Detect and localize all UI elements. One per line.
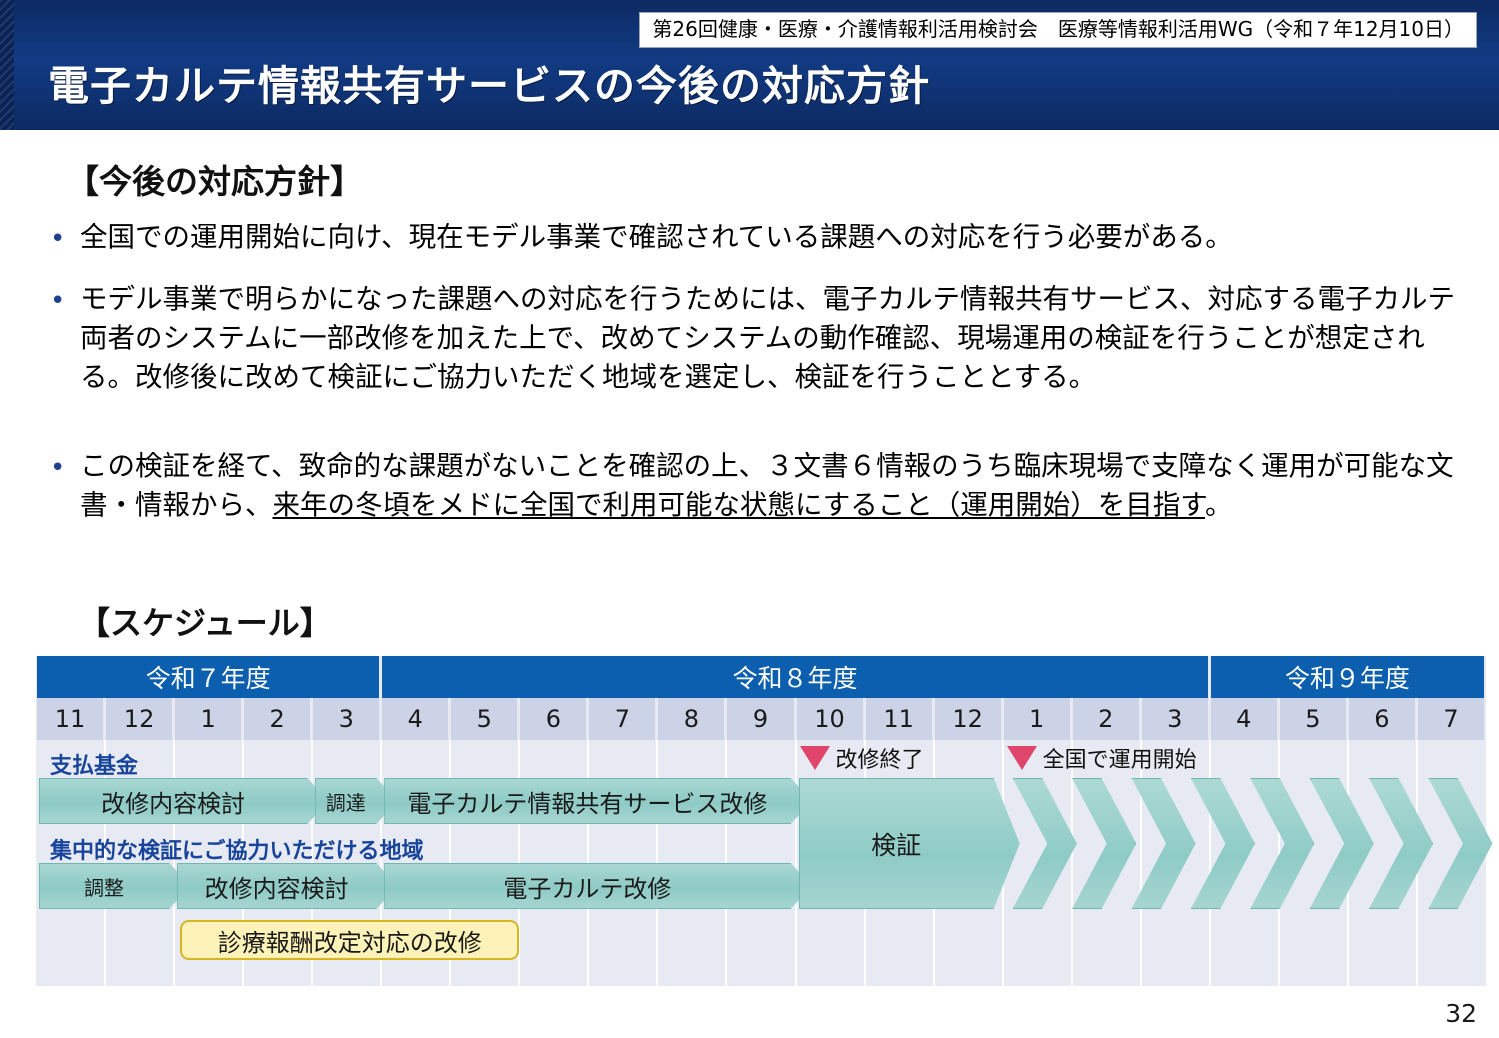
gantt-chevron-4 xyxy=(1191,778,1255,909)
page-title: 電子カルテ情報共有サービスの今後の対応方針 xyxy=(48,52,930,112)
fiscal-year-header-row: 令和７年度令和８年度令和９年度 xyxy=(36,656,1486,698)
month-cell-1-2: 1 xyxy=(175,698,241,740)
group-label-1: 支払基金 xyxy=(50,748,138,780)
month-cell-2-3: 2 xyxy=(244,698,310,740)
fiscal-year-cell-3: 令和９年度 xyxy=(1211,656,1484,698)
month-cell-8-9: 8 xyxy=(658,698,724,740)
month-cell-4-5: 4 xyxy=(382,698,448,740)
meeting-tag: 第26回健康・医療・介護情報利活用検討会 医療等情報利活用WG（令和７年12月1… xyxy=(639,12,1477,48)
milestone-label: 改修終了 xyxy=(836,742,924,774)
month-header-row: 11121234567891011121234567 xyxy=(36,698,1486,740)
group-label-2: 集中的な検証にご協力いただける地域 xyxy=(50,833,424,865)
bullet-text: 全国での運用開始に向け、現在モデル事業で確認されている課題への対応を行う必要があ… xyxy=(80,218,1233,257)
month-cell-6-7: 6 xyxy=(520,698,586,740)
triangle-down-icon xyxy=(1007,746,1037,770)
month-cell-11-12: 11 xyxy=(866,698,932,740)
schedule-heading: 【スケジュール】 xyxy=(78,598,332,644)
month-cell-4-17: 4 xyxy=(1211,698,1277,740)
gantt-bar-shinryo-hoshu-kaitei: 診療報酬改定対応の改修 xyxy=(180,920,519,960)
bullet-text: モデル事業で明らかになった課題への対応を行うためには、電子カルテ情報共有サービス… xyxy=(80,280,1475,397)
milestone-marker-1: 改修終了 xyxy=(800,742,924,774)
gantt-bar-kaishu-naiyo-kento-kikin: 改修内容検討 xyxy=(39,778,329,824)
bullet-text-underlined: 来年の冬頃をメドに全国で利用可能な状態にすること（運用開始）を目指す xyxy=(273,489,1206,521)
bullet-item-3: • この検証を経て、致命的な課題がないことを確認の上、３文書６情報のうち臨床現場… xyxy=(50,447,1475,525)
month-cell-5-6: 5 xyxy=(451,698,517,740)
grid-line xyxy=(1209,740,1211,986)
gantt-bar-denshi-karute-service-kaishu: 電子カルテ情報共有サービス改修 xyxy=(384,778,812,824)
month-cell-1-14: 1 xyxy=(1004,698,1070,740)
header-band: 第26回健康・医療・介護情報利活用検討会 医療等情報利活用WG（令和７年12月1… xyxy=(0,0,1499,130)
month-cell-3-16: 3 xyxy=(1142,698,1208,740)
month-cell-3-4: 3 xyxy=(313,698,379,740)
bullet-dot: • xyxy=(50,447,80,481)
month-cell-9-10: 9 xyxy=(727,698,793,740)
month-cell-2-15: 2 xyxy=(1073,698,1139,740)
bullet-text: この検証を経て、致命的な課題がないことを確認の上、３文書６情報のうち臨床現場で支… xyxy=(80,447,1475,525)
triangle-down-icon xyxy=(800,746,830,770)
gantt-grid-area: 支払基金集中的な検証にご協力いただける地域改修内容検討調達電子カルテ情報共有サー… xyxy=(36,740,1486,986)
gantt-chevron-7 xyxy=(1369,778,1433,909)
gantt-chevron-2 xyxy=(1072,778,1136,909)
gantt-chevron-8 xyxy=(1428,778,1492,909)
bullet-text-tail: 。 xyxy=(1205,489,1233,521)
gantt-bar-kensho: 検証 xyxy=(799,778,1020,909)
page-number: 32 xyxy=(1445,999,1477,1028)
policy-heading: 【今後の対応方針】 xyxy=(66,155,363,203)
gantt-chevron-6 xyxy=(1310,778,1374,909)
bullet-dot: • xyxy=(50,280,80,314)
gantt-bar-kaishu-naiyo-kento-chiiki: 改修内容検討 xyxy=(177,863,398,909)
bullet-dot: • xyxy=(50,218,80,252)
bullet-item-1: • 全国での運用開始に向け、現在モデル事業で確認されている課題への対応を行う必要… xyxy=(50,218,1470,257)
month-cell-5-18: 5 xyxy=(1280,698,1346,740)
month-cell-12-1: 12 xyxy=(106,698,172,740)
schedule-gantt: 令和７年度令和８年度令和９年度 111212345678910111212345… xyxy=(36,656,1486,986)
milestone-label: 全国で運用開始 xyxy=(1043,742,1197,774)
month-cell-7-8: 7 xyxy=(589,698,655,740)
grid-line xyxy=(1140,740,1142,986)
header-left-accent xyxy=(0,0,14,130)
month-cell-12-13: 12 xyxy=(935,698,1001,740)
month-cell-6-19: 6 xyxy=(1349,698,1415,740)
month-cell-11-0: 11 xyxy=(37,698,103,740)
gantt-bar-denshi-karute-kaishu: 電子カルテ改修 xyxy=(384,863,812,909)
gantt-chevron-1 xyxy=(1013,778,1077,909)
grid-line xyxy=(795,740,797,986)
gantt-bar-chosei: 調整 xyxy=(39,863,191,909)
fiscal-year-cell-2: 令和８年度 xyxy=(382,656,1208,698)
fiscal-year-cell-1: 令和７年度 xyxy=(37,656,379,698)
milestone-marker-2: 全国で運用開始 xyxy=(1007,742,1197,774)
gantt-chevron-5 xyxy=(1250,778,1314,909)
grid-line xyxy=(1071,740,1073,986)
bullet-item-2: • モデル事業で明らかになった課題への対応を行うためには、電子カルテ情報共有サー… xyxy=(50,280,1475,397)
month-cell-10-11: 10 xyxy=(797,698,863,740)
month-cell-7-20: 7 xyxy=(1418,698,1484,740)
